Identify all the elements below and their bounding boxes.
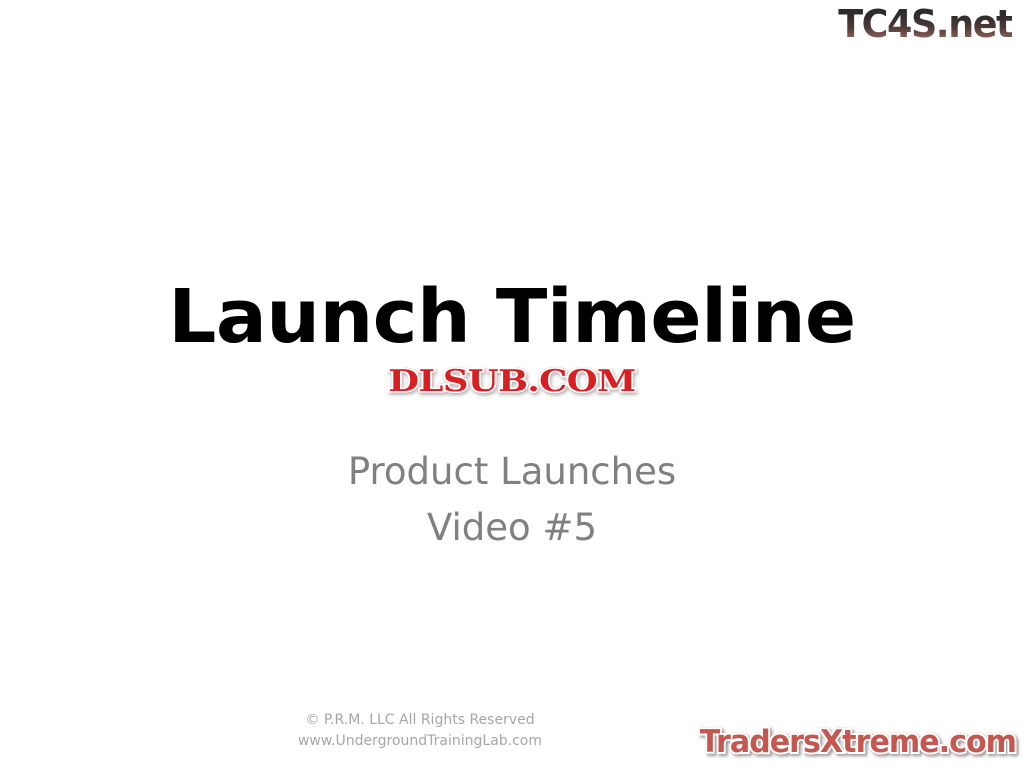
title-block: Launch Timeline bbox=[0, 276, 1024, 358]
page-title: Launch Timeline bbox=[0, 276, 1024, 358]
slide-canvas: TC4S.net Launch Timeline DLSUB.COM Produ… bbox=[0, 0, 1024, 768]
dlsub-watermark: DLSUB.COM bbox=[388, 363, 635, 401]
tc4s-logo: TC4S.net bbox=[838, 2, 1012, 46]
footer-line-copyright: © P.R.M. LLC All Rights Reserved bbox=[180, 710, 660, 731]
tradersxtreme-logo: TradersXtreme.com bbox=[700, 722, 1016, 762]
tradersxtreme-logo-text: TradersXtreme.com bbox=[700, 724, 1016, 760]
subtitle-block: Product Launches Video #5 bbox=[0, 444, 1024, 556]
footer-line-website: www.UndergroundTrainingLab.com bbox=[180, 731, 660, 752]
dlsub-watermark-text: DLSUB.COM bbox=[388, 364, 635, 399]
subtitle-line-1: Product Launches bbox=[0, 444, 1024, 500]
footer-copyright: © P.R.M. LLC All Rights Reserved www.Und… bbox=[180, 710, 660, 752]
subtitle-line-2: Video #5 bbox=[0, 500, 1024, 556]
